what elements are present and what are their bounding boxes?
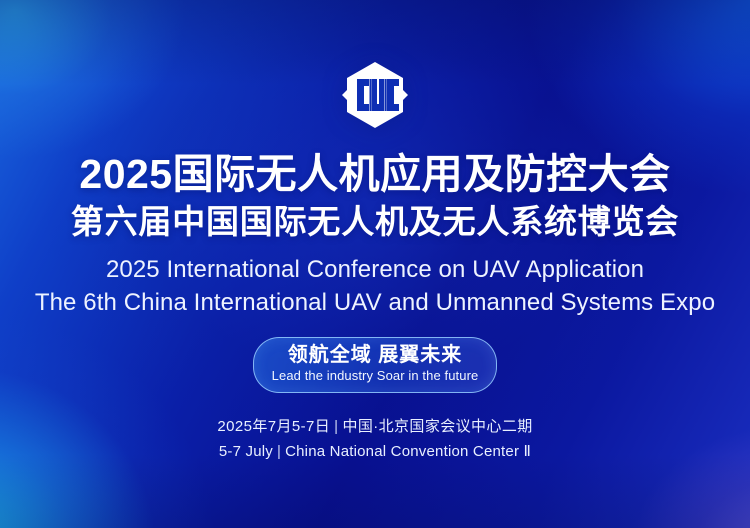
event-date-en: 5-7 July	[219, 443, 273, 460]
conference-title-en-secondary: The 6th China International UAV and Unma…	[35, 288, 715, 317]
event-venue-en: China National Convention Center Ⅱ	[285, 443, 531, 460]
conference-title-cn-primary: 2025国际无人机应用及防控大会	[79, 152, 670, 196]
cuc-hexagon-logo-icon	[336, 56, 414, 134]
slogan-badge: 领航全域 展翼未来 Lead the industry Soar in the …	[253, 337, 497, 393]
slogan-text-cn: 领航全域 展翼未来	[288, 344, 463, 367]
event-meta-en: 5-7 July|China National Convention Cente…	[219, 442, 531, 462]
conference-title-cn-secondary: 第六届中国国际无人机及无人系统博览会	[71, 204, 679, 240]
event-meta-separator-en: |	[273, 443, 285, 460]
event-venue-cn: 中国·北京国家会议中心二期	[342, 418, 532, 435]
conference-title-en-primary: 2025 International Conference on UAV App…	[106, 255, 644, 284]
conference-poster: 2025国际无人机应用及防控大会 第六届中国国际无人机及无人系统博览会 2025…	[0, 0, 750, 528]
event-meta-separator-cn: |	[330, 418, 342, 435]
slogan-text-en: Lead the industry Soar in the future	[272, 368, 479, 384]
event-date-cn: 2025年7月5-7日	[217, 418, 330, 435]
event-meta-cn: 2025年7月5-7日|中国·北京国家会议中心二期	[217, 417, 532, 437]
poster-content: 2025国际无人机应用及防控大会 第六届中国国际无人机及无人系统博览会 2025…	[0, 0, 750, 528]
